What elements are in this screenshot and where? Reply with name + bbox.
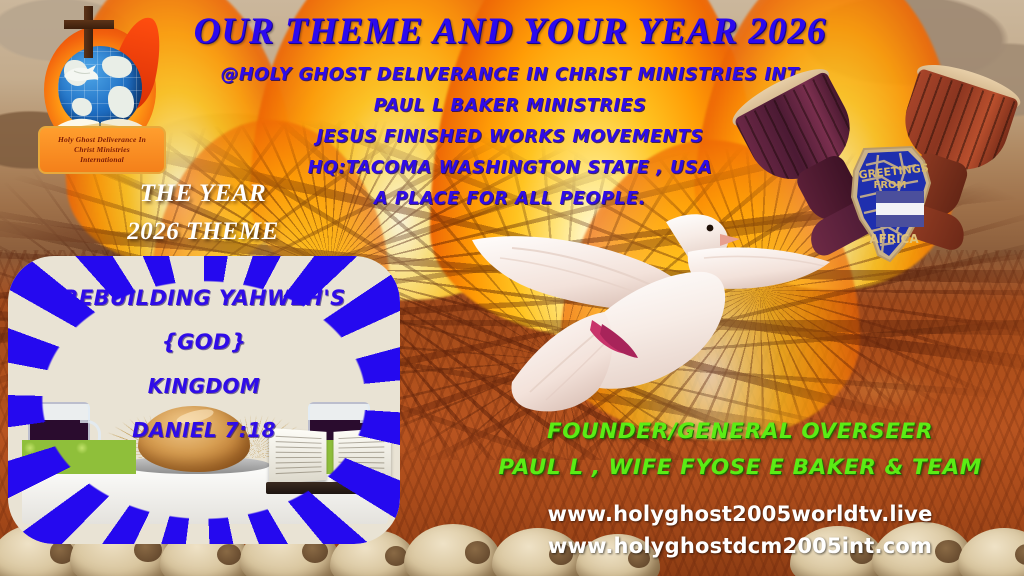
logo-band-line-3: International — [80, 155, 124, 165]
year-theme-label: THE YEAR 2026 THEME — [88, 175, 318, 251]
logo-dove-icon — [62, 62, 102, 84]
logo-band-line-1: Holy Ghost Deliverance In — [58, 135, 146, 145]
website-url-2[interactable]: www.holyghostdcm2005int.com — [460, 530, 1020, 562]
svg-text:AFRICA: AFRICA — [869, 232, 919, 246]
theme-line-1: REBUILDING YAHWEH'S {GOD} — [28, 276, 380, 364]
logo-band-line-2: Christ Ministries — [74, 145, 130, 155]
theme-text-block: REBUILDING YAHWEH'S {GOD} KINGDOM DANIEL… — [28, 276, 380, 452]
logo-name-banner: Holy Ghost Deliverance In Christ Ministr… — [38, 126, 166, 174]
svg-text:FROM: FROM — [874, 180, 907, 191]
website-url-1[interactable]: www.holyghost2005worldtv.live — [460, 498, 1020, 530]
cross-icon — [84, 6, 93, 58]
cross-arm-icon — [64, 20, 114, 29]
theme-line-2: KINGDOM — [28, 364, 380, 408]
founder-block: FOUNDER/GENERAL OVERSEER PAUL L , WIFE F… — [460, 414, 1020, 486]
page-title: OUR THEME AND YOUR YEAR 2026 — [150, 10, 870, 53]
year-theme-line-2: 2026 THEME — [88, 213, 318, 251]
africa-map-icon: GREETINGS FROM AFRICA — [838, 145, 950, 265]
year-theme-line-1: THE YEAR — [88, 175, 318, 213]
theme-line-3: DANIEL 7:18 — [28, 408, 380, 452]
website-urls-block: www.holyghost2005worldtv.live www.holygh… — [460, 498, 1020, 562]
founder-line-1: FOUNDER/GENERAL OVERSEER — [460, 414, 1020, 450]
theme-panel: REBUILDING YAHWEH'S {GOD} KINGDOM DANIEL… — [8, 256, 400, 544]
ministry-logo: Holy Ghost Deliverance In Christ Ministr… — [28, 4, 168, 174]
subtitle-line-1: @HOLY GHOST DELIVERANCE IN CHRIST MINIST… — [180, 60, 840, 91]
poster-canvas: Holy Ghost Deliverance In Christ Ministr… — [0, 0, 1024, 576]
founder-line-2: PAUL L , WIFE FYOSE E BAKER & TEAM — [460, 450, 1020, 486]
